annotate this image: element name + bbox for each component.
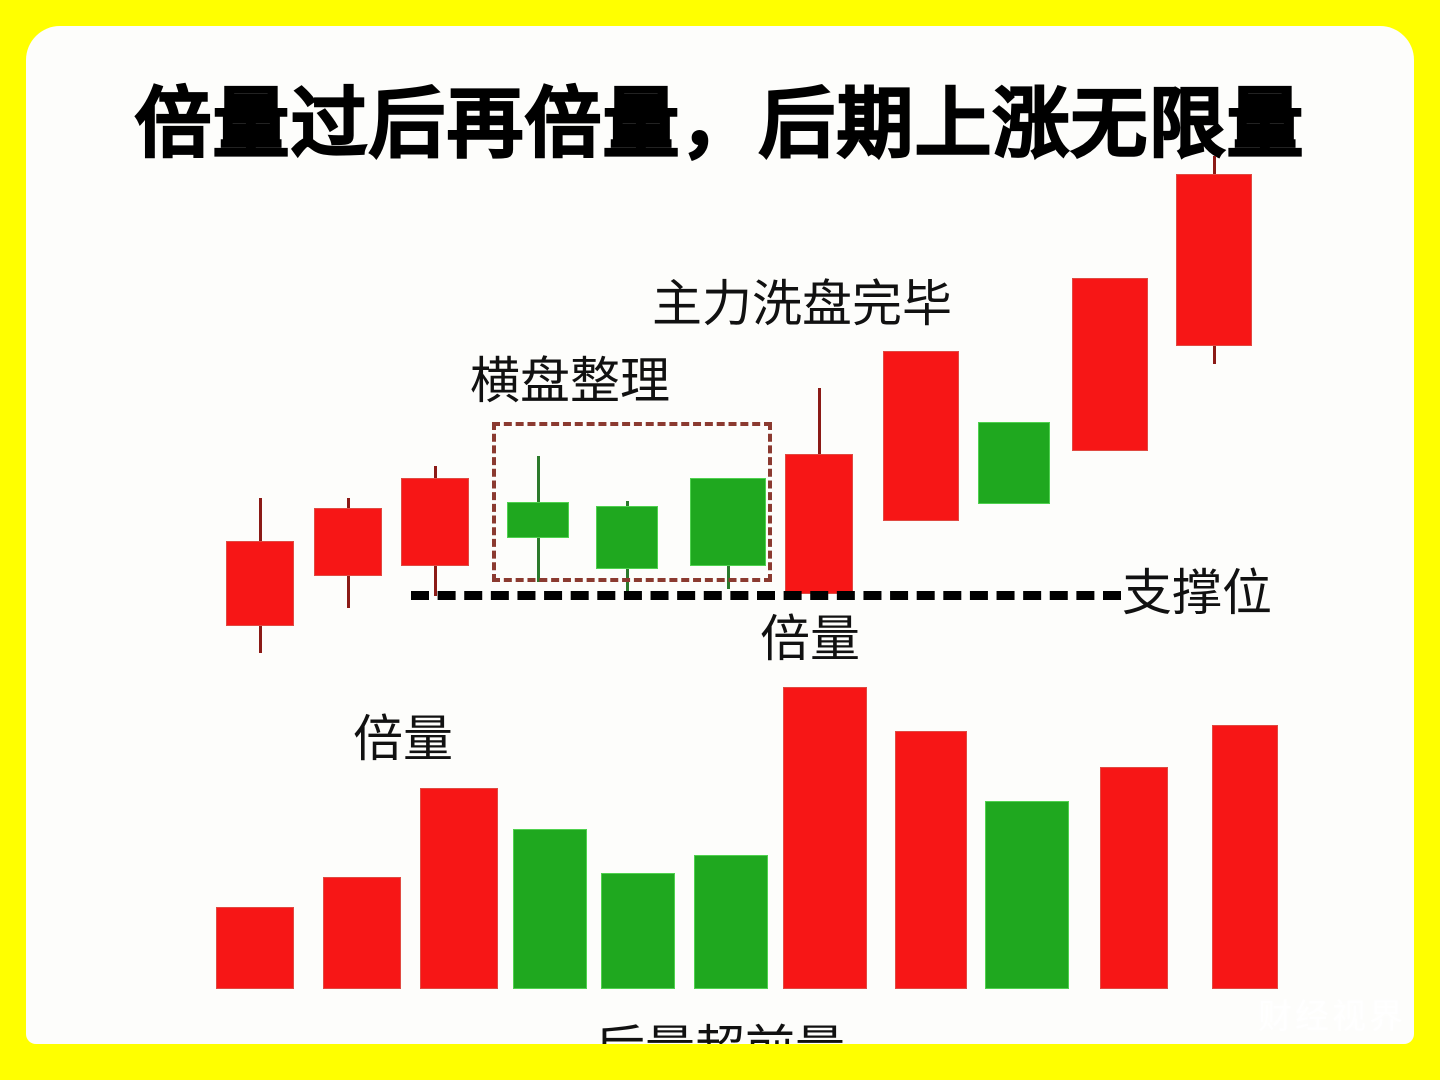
volume-bar	[1100, 767, 1168, 989]
candle-body	[226, 541, 294, 626]
volume-bar	[783, 687, 867, 989]
white-card: 倍量过后再倍量，后期上涨无限量 主力洗盘完毕 横盘整理 支撑位 倍量 倍量 后量…	[26, 26, 1414, 1044]
volume-bar	[895, 731, 967, 989]
candlestick	[1176, 156, 1252, 364]
candlestick	[785, 388, 853, 594]
volume-bar	[323, 877, 401, 989]
volume-bar	[420, 788, 498, 989]
candle-body	[883, 351, 959, 521]
annotation-volume-double-1: 倍量	[353, 714, 453, 764]
candle-body	[978, 422, 1050, 504]
volume-bar	[694, 855, 768, 989]
candlestick	[314, 498, 382, 608]
candlestick	[883, 351, 959, 521]
volume-bar	[216, 907, 294, 989]
support-line	[411, 591, 1121, 600]
annotation-washout: 主力洗盘完毕	[652, 279, 952, 329]
watermark: 财经视界	[1258, 989, 1406, 1038]
volume-bar	[513, 829, 587, 989]
candlestick	[226, 498, 294, 653]
volume-bar	[601, 873, 675, 989]
annotation-volume-double-2: 倍量	[760, 614, 860, 664]
candle-body	[314, 508, 382, 576]
candle-body	[785, 454, 853, 594]
consolidation-box	[492, 422, 772, 582]
candle-body	[1072, 278, 1148, 451]
poster-canvas: 倍量过后再倍量，后期上涨无限量 主力洗盘完毕 横盘整理 支撑位 倍量 倍量 后量…	[0, 0, 1440, 1080]
candlestick	[978, 422, 1050, 504]
annotation-bottom-caption: 后量超前量	[26, 1024, 1414, 1044]
annotation-consolidation: 横盘整理	[470, 356, 670, 406]
candle-body	[401, 478, 469, 566]
candle-body	[1176, 174, 1252, 346]
annotation-support: 支撑位	[1122, 568, 1272, 618]
volume-bar	[1212, 725, 1278, 989]
candlestick	[401, 466, 469, 596]
candlestick	[1072, 278, 1148, 451]
volume-bar	[985, 801, 1069, 989]
